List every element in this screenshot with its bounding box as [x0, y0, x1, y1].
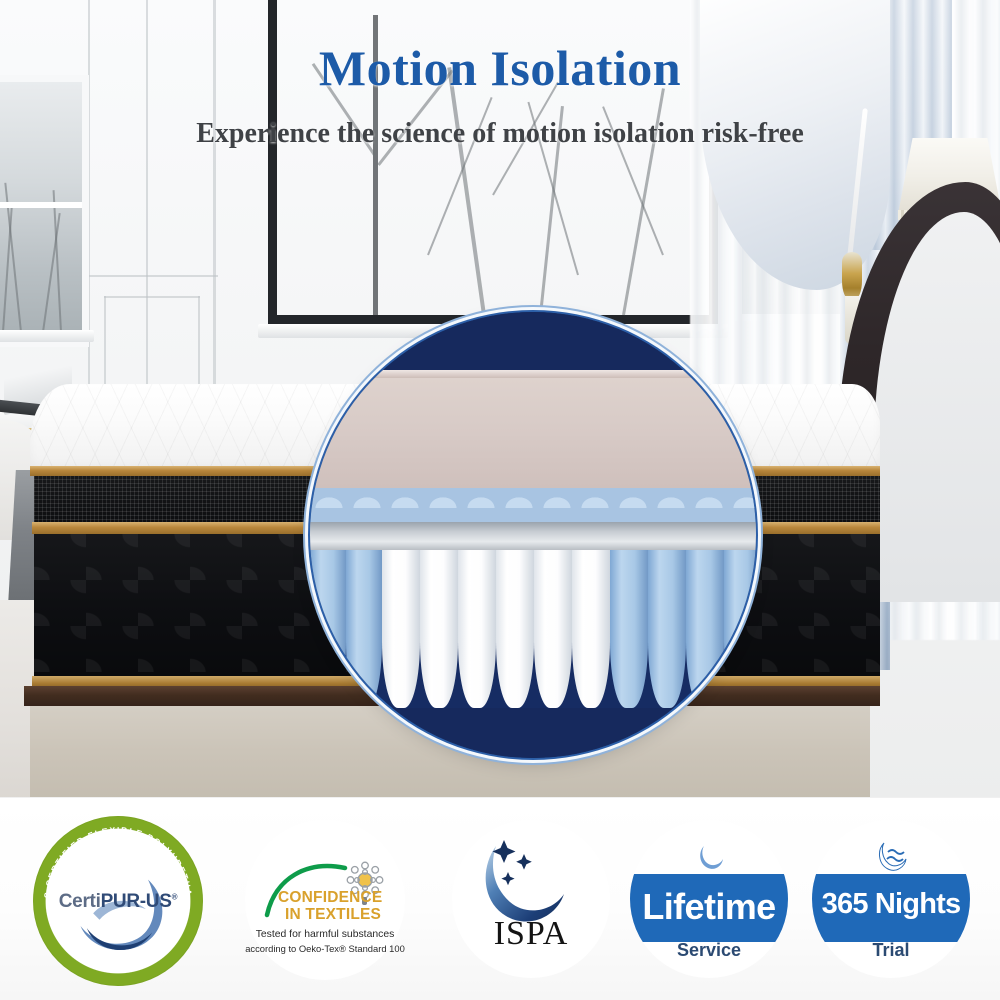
certipur-wordmark: CertiPUR-US® — [33, 891, 203, 913]
pocket-coil — [686, 550, 724, 708]
window-mullion — [0, 202, 82, 208]
pocket-coil — [572, 550, 610, 708]
trial-main-label: 365 Nights — [812, 888, 970, 921]
oeko-line4: according to Oeko-Tex® Standard 100 — [245, 943, 405, 954]
support-base-band — [310, 522, 756, 550]
pocket-coil — [382, 550, 420, 708]
foam-top-edge — [310, 370, 756, 378]
pocket-coil — [610, 550, 648, 708]
certipur-wordmark-prefix: Certi — [59, 891, 101, 912]
moon-icon — [694, 842, 726, 874]
product-feature-banner: Motion Isolation Experience the science … — [0, 0, 1000, 1000]
pocket-coil — [648, 550, 686, 708]
pocket-coil — [346, 550, 382, 708]
certification-badge-strip: CONTAINS CERTIFIED FLEXIBLE POLYURETHANE… — [0, 797, 1000, 1000]
pocket-coil — [420, 550, 458, 708]
badge-ispa[interactable]: ISPA — [452, 820, 610, 978]
ispa-label: ISPA — [452, 915, 610, 953]
window-sill — [0, 330, 94, 342]
page-title: Motion Isolation — [0, 42, 1000, 95]
badge-365-nights-trial[interactable]: 365 Nights Trial — [812, 820, 970, 978]
trial-sub-label: Trial — [812, 940, 970, 961]
oeko-line3: Tested for harmful substances — [256, 929, 395, 940]
foam-wave-crests — [310, 488, 756, 508]
badge-oeko-tex[interactable]: CONFIDENCE IN TEXTILES Tested for harmfu… — [245, 820, 405, 980]
badge-lifetime-service[interactable]: Lifetime Service — [630, 820, 788, 978]
pocketed-coil-row — [310, 550, 756, 708]
pocket-coil — [496, 550, 534, 708]
oeko-line1: CONFIDENCE — [278, 889, 382, 906]
oeko-artwork: CONFIDENCE IN TEXTILES Tested for harmfu… — [245, 820, 405, 980]
pocket-coil — [724, 550, 756, 708]
magnifier-backdrop-top — [310, 312, 756, 372]
pocket-coil — [458, 550, 496, 708]
badge-certipur-us[interactable]: CONTAINS CERTIFIED FLEXIBLE POLYURETHANE… — [33, 816, 203, 986]
oeko-line2: IN TEXTILES — [285, 906, 381, 923]
pocket-coil — [310, 550, 346, 708]
certipur-registered-mark: ® — [172, 892, 178, 901]
curtain-tieback-tassel — [842, 252, 862, 300]
certipur-wordmark-accent: PUR-US — [101, 891, 172, 912]
wall-panel-line — [104, 296, 200, 298]
lifetime-main-label: Lifetime — [630, 886, 788, 928]
mattress-cutaway-magnifier[interactable] — [310, 312, 756, 758]
magnifier-backdrop-bottom — [310, 708, 756, 758]
certipur-swoosh-icon — [70, 867, 175, 959]
page-subtitle: Experience the science of motion isolati… — [0, 118, 1000, 150]
ispa-moon-stars-icon — [452, 820, 610, 978]
pocket-coil — [534, 550, 572, 708]
lifetime-sub-label: Service — [630, 940, 788, 961]
sleeping-moon-icon — [872, 840, 912, 876]
memory-foam-layer — [310, 378, 756, 488]
wall-panel-line — [84, 275, 218, 277]
